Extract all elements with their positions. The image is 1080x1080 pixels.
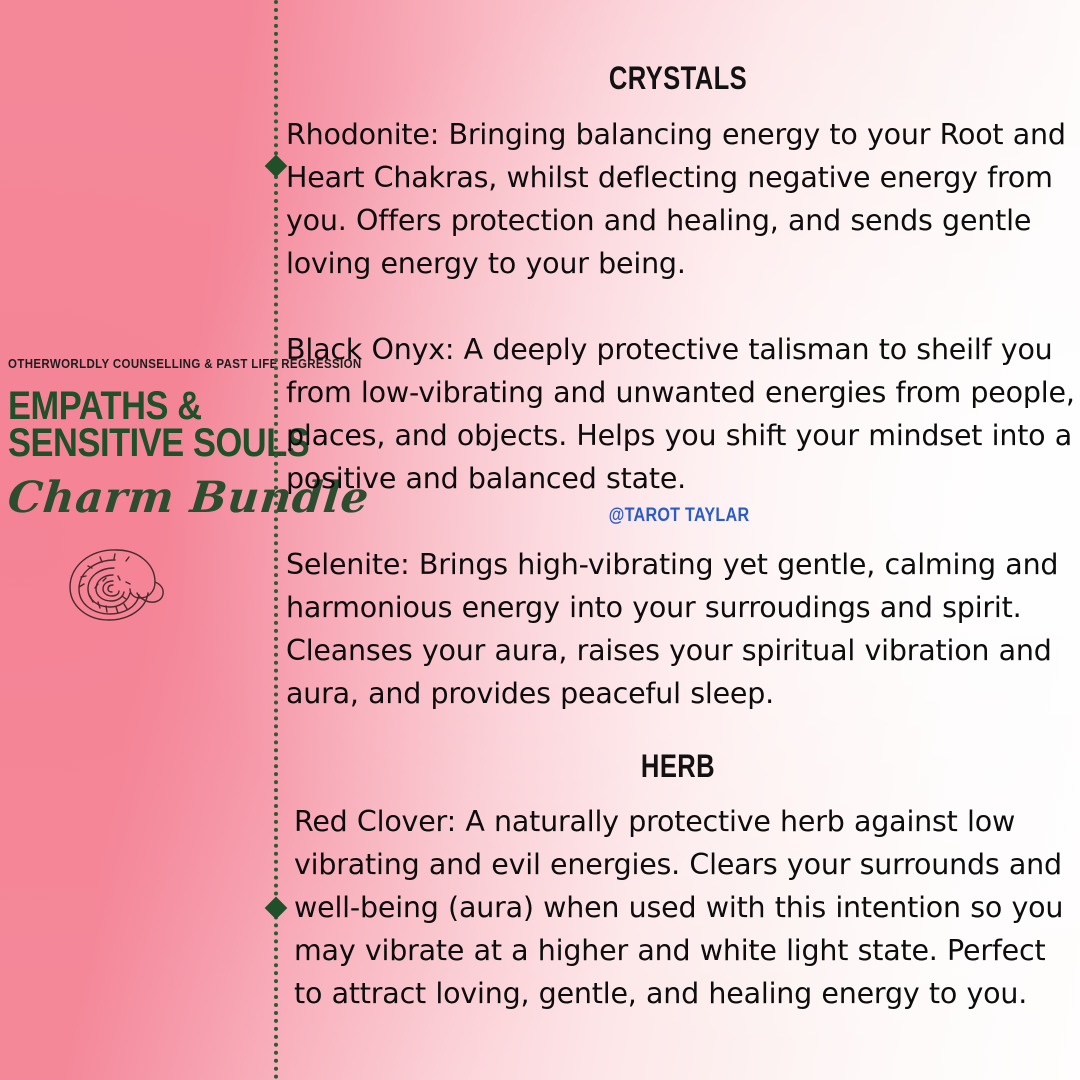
entry-selenite: Selenite: Brings high-vibrating yet gent…: [278, 543, 1080, 715]
snail-shell-spiral-icon: [60, 540, 170, 626]
content-panel: CRYSTALS Rhodonite: Bringing balancing e…: [278, 0, 1080, 1080]
brand-panel: OTHERWORLDLY COUNSELLING & PAST LIFE REG…: [0, 0, 268, 1080]
entry-red-clover: Red Clover: A naturally protective herb …: [286, 800, 1080, 1015]
watermark: @TAROT TAYLAR: [338, 505, 1020, 527]
page-title-line-2: SENSITIVE SOULS: [8, 425, 230, 463]
section-heading-crystals: CRYSTALS: [358, 60, 998, 97]
entry-rhodonite: Rhodonite: Bringing balancing energy to …: [278, 113, 1080, 285]
charm-bundle-graphic: OTHERWORLDLY COUNSELLING & PAST LIFE REG…: [0, 0, 1080, 1080]
page-subtitle: Charm Bundle: [6, 477, 269, 520]
page-title: EMPATHS & SENSITIVE SOULS: [8, 388, 230, 463]
section-heading-herb: HERB: [358, 748, 998, 785]
brand-tagline: OTHERWORLDLY COUNSELLING & PAST LIFE REG…: [8, 358, 245, 372]
entry-black-onyx: Black Onyx: A deeply protective talisman…: [278, 328, 1080, 500]
brand-block: OTHERWORLDLY COUNSELLING & PAST LIFE REG…: [8, 358, 266, 630]
